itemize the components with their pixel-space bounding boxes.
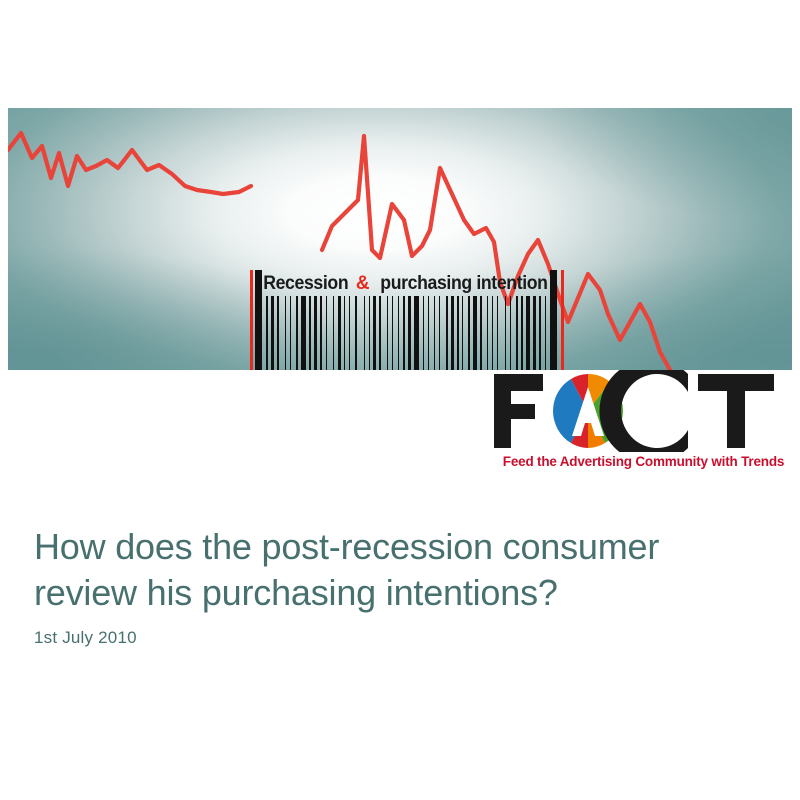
barcode-bar: [434, 296, 435, 370]
barcode-bar: [521, 296, 523, 370]
barcode-bar: [333, 296, 334, 370]
barcode-bar: [403, 296, 405, 370]
barcode-bar: [344, 296, 345, 370]
barcode-bar: [296, 296, 298, 370]
barcode-bar: [451, 296, 454, 370]
barcode-bar: [439, 296, 440, 370]
barcode-bar: [526, 296, 530, 370]
barcode-bar: [398, 296, 399, 370]
barcode-guard-black-left: [255, 270, 262, 370]
fact-tagline: Feed the Advertising Community with Tren…: [495, 454, 792, 469]
logo-letter-f: [494, 374, 543, 448]
barcode-bar: [539, 296, 541, 370]
barcode-bar: [387, 296, 388, 370]
barcode-bar: [462, 296, 463, 370]
barcode-bar: [473, 296, 477, 370]
page-title: How does the post-recession consumer rev…: [34, 524, 754, 615]
barcode-bar: [379, 296, 381, 370]
page-title-line-1: How does the post-recession consumer: [34, 526, 659, 567]
barcode-bar: [392, 296, 393, 370]
presentation-slide: Recession & purchasing intention: [0, 0, 800, 800]
barcode-bar: [266, 296, 268, 370]
barcode-bar: [480, 296, 482, 370]
barcode-bar: [364, 296, 365, 370]
barcode-bar: [320, 296, 322, 370]
date-line: 1st July 2010: [34, 628, 137, 648]
barcode-bar: [271, 296, 274, 370]
barcode-bar: [277, 296, 279, 370]
barcode-bar: [369, 296, 370, 370]
barcode-bar: [414, 296, 419, 370]
trendline-path-left: [8, 133, 251, 194]
barcode-bar: [290, 296, 291, 370]
barcode-bar: [326, 296, 327, 370]
barcode-bar: [349, 296, 350, 370]
barcode-bars: [250, 296, 564, 370]
barcode-bar: [533, 296, 536, 370]
barcode-bar: [355, 296, 357, 370]
barcode-bar: [516, 296, 518, 370]
barcode-title-ampersand: &: [352, 273, 374, 295]
barcode-bar: [545, 296, 546, 370]
barcode-bar: [446, 296, 448, 370]
barcode-title-word-1: Recession: [264, 273, 349, 295]
barcode-bar: [373, 296, 376, 370]
barcode-bar: [309, 296, 311, 370]
logo-letter-c: [599, 370, 688, 452]
barcode-bar: [497, 296, 498, 370]
barcode-bar: [428, 296, 429, 370]
barcode-bar: [505, 296, 506, 370]
barcode-title: Recession & purchasing intention: [264, 270, 550, 298]
barcode-bar: [487, 296, 488, 370]
barcode-bar: [338, 296, 341, 370]
logo-letter-t: [698, 374, 774, 448]
barcode-bar: [423, 296, 424, 370]
barcode-guard-black-right: [550, 270, 557, 370]
barcode-bar: [468, 296, 470, 370]
barcode-bar: [314, 296, 317, 370]
barcode-title-word-2: purchasing intention: [380, 273, 547, 295]
barcode-guard-red-left: [250, 270, 253, 370]
barcode-bar: [408, 296, 411, 370]
barcode-bar: [301, 296, 306, 370]
barcode-bar: [510, 296, 511, 370]
barcode-guard-red-right: [561, 270, 564, 370]
hero-banner-image: Recession & purchasing intention: [8, 108, 792, 370]
fact-wordmark: [492, 370, 792, 452]
barcode-bar: [457, 296, 459, 370]
barcode-bar: [492, 296, 493, 370]
barcode-bar: [285, 296, 286, 370]
barcode-graphic: Recession & purchasing intention: [250, 270, 564, 370]
page-title-line-2: review his purchasing intentions?: [34, 572, 558, 613]
fact-logo: Feed the Advertising Community with Tren…: [492, 370, 792, 480]
